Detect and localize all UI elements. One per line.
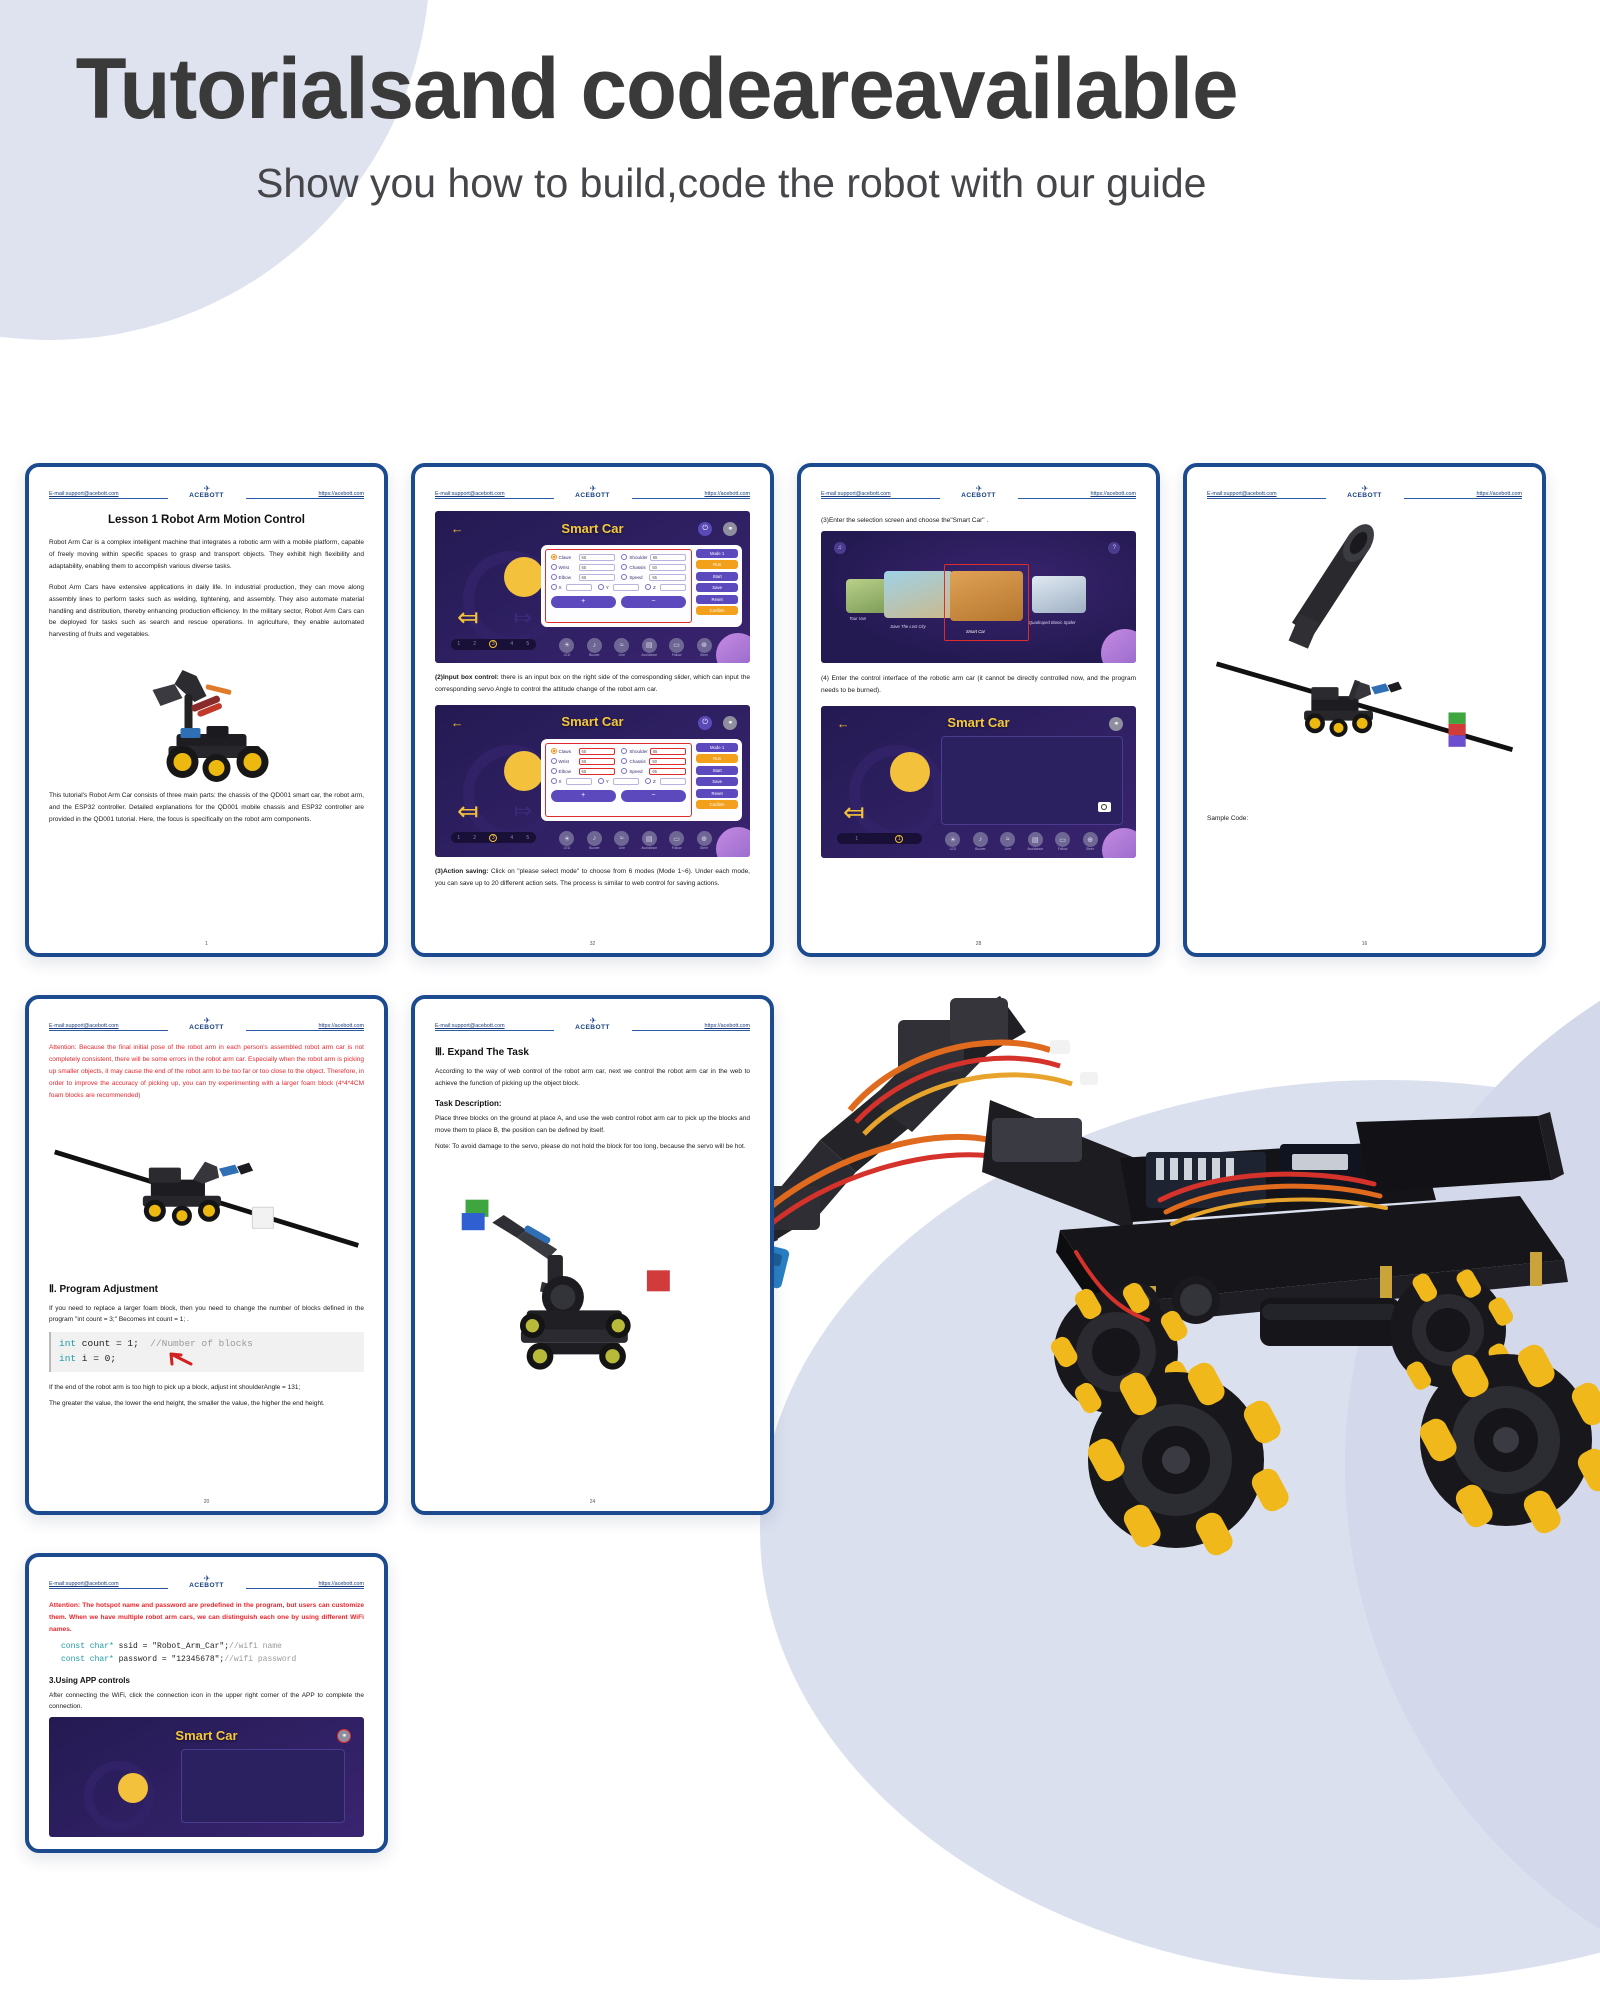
servo-field-chassis[interactable]: Chassis 50: [621, 564, 686, 571]
lesson-paragraph-3: This tutorial's Robot Arm Car consists o…: [49, 790, 364, 825]
dock-label: Avoidance: [1023, 848, 1048, 852]
servo-input[interactable]: 65: [579, 554, 616, 561]
servo-input[interactable]: 65: [650, 554, 686, 561]
avoidance-icon[interactable]: ▤: [642, 638, 657, 653]
dock-item-buzzer[interactable]: ♪ Buzzer: [582, 638, 607, 658]
servo-input[interactable]: 65: [650, 748, 686, 755]
dock-label: Steer: [692, 847, 717, 851]
radio-icon[interactable]: [621, 554, 627, 560]
led-icon[interactable]: ☀: [559, 638, 574, 653]
acebott-brand-name: ACEBOTT: [1326, 492, 1404, 499]
code-comment: //wifi password: [224, 1655, 296, 1664]
dock-label: Buzzer: [968, 848, 993, 852]
slider-step-active[interactable]: 1: [895, 835, 903, 843]
servo-input[interactable]: 65: [649, 768, 686, 775]
servo-field-claws[interactable]: Claws 65: [551, 748, 616, 755]
slider-step-active[interactable]: 3: [489, 640, 497, 648]
axis-input[interactable]: [660, 778, 686, 785]
acebott-logo-icon: ✈: [940, 485, 1018, 492]
confirm-button[interactable]: Confirm: [696, 606, 738, 615]
servo-field-chassis[interactable]: Chassis 50: [621, 758, 686, 765]
caption-selection-screen: (3)Enter the selection screen and choose…: [821, 515, 1136, 527]
servo-field-elbow[interactable]: Elbow 65: [551, 574, 616, 581]
radio-icon[interactable]: [598, 778, 604, 784]
axis-label: X: [559, 585, 564, 590]
section-title-program-adjustment: Ⅱ. Program Adjustment: [49, 1284, 364, 1295]
task-description-label: Task Description:: [435, 1099, 750, 1108]
task-description-text: Place three blocks on the ground at plac…: [435, 1113, 750, 1137]
acebott-logo-icon: ✈: [168, 1575, 246, 1582]
dock-item-line[interactable]: ≈ Line: [610, 638, 635, 658]
radio-icon[interactable]: [598, 584, 604, 590]
start-button[interactable]: Start: [696, 572, 738, 581]
page-number: 1: [29, 941, 384, 947]
smartcar-app-screenshot-4[interactable]: Smart Car ⚭: [49, 1717, 364, 1837]
joystick-knob[interactable]: [890, 752, 930, 792]
dock-label: Buzzer: [582, 847, 607, 851]
dock-item-avoidance[interactable]: ▤ Avoidance: [1023, 832, 1048, 852]
project-selection-screenshot[interactable]: ♫ ? Tour Van Save The Lost City Smart Ca…: [821, 531, 1136, 663]
radio-icon[interactable]: [551, 748, 557, 754]
steer-icon[interactable]: ⊕: [697, 638, 712, 653]
doc-header: E-mail:support@acebott.com ✈ ACEBOTT htt…: [1207, 481, 1522, 501]
acebott-brand-name: ACEBOTT: [554, 1024, 632, 1031]
slider-step[interactable]: 4: [510, 641, 513, 647]
smartcar-app-screenshot-3[interactable]: ← Smart Car ⚭ ⤆ 1 1 ☀ LED: [821, 706, 1136, 858]
code-block-count: int count = 1; //Number of blocks int i …: [49, 1332, 364, 1371]
dock-item-follow[interactable]: ▭ Follow: [1050, 832, 1075, 852]
servo-label: Elbow: [559, 769, 577, 774]
line-icon[interactable]: ≈: [614, 831, 629, 846]
run-button[interactable]: Run: [696, 754, 738, 763]
doc-header: E-mail:support@acebott.com ✈ ACEBOTT htt…: [821, 481, 1136, 501]
increment-button[interactable]: +: [551, 790, 616, 802]
led-icon[interactable]: ☀: [945, 832, 960, 847]
joystick-knob[interactable]: [118, 1773, 148, 1803]
section-title-using-app: 3.Using APP controls: [49, 1676, 364, 1685]
height-value-note: The greater the value, the lower the end…: [49, 1398, 364, 1410]
servo-label: Shoulder: [629, 555, 647, 560]
project-label: Save The Lost City: [890, 624, 925, 629]
dock-item-line[interactable]: ≈ Line: [996, 832, 1021, 852]
radio-icon[interactable]: [551, 574, 557, 580]
servo-label: Speed: [629, 769, 647, 774]
axis-field-y[interactable]: Y: [598, 778, 639, 785]
acebott-brand-name: ACEBOTT: [554, 492, 632, 499]
dock-item-led[interactable]: ☀ LED: [555, 831, 580, 851]
servo-label: Shoulder: [629, 749, 647, 754]
radio-icon[interactable]: [645, 584, 651, 590]
tutorial-card-lesson1[interactable]: E-mail:support@acebott.com ✈ ACEBOTT htt…: [25, 463, 388, 957]
servo-input[interactable]: 50: [649, 564, 686, 571]
smartcar-app-screenshot-1[interactable]: ← Smart Car ⏻ ⚭ ⤆ ⤇ 1 2 3 4 5: [435, 511, 750, 663]
code-text: ssid = "Robot_Arm_Car";: [114, 1642, 229, 1651]
page-number: 20: [29, 1499, 384, 1505]
app-connection-paragraph: After connecting the WiFi, click the con…: [49, 1690, 364, 1714]
caption-action-saving: (3)Action saving: Click on "please selec…: [435, 866, 750, 890]
start-button[interactable]: Start: [696, 766, 738, 775]
axis-label: Z: [653, 585, 658, 590]
servo-input[interactable]: 65: [579, 564, 616, 571]
caption-control-interface: (4) Enter the control interface of the r…: [821, 673, 1136, 697]
doc-email: E-mail:support@acebott.com: [435, 1023, 554, 1031]
servo-field-elbow[interactable]: Elbow 65: [551, 768, 616, 775]
servo-input[interactable]: 65: [579, 748, 616, 755]
doc-url: https://acebott.com: [632, 1023, 751, 1031]
servo-field-shoulder[interactable]: Shoulder 65: [621, 748, 686, 755]
tutorial-card-expand-task[interactable]: E-mail:support@acebott.com ✈ ACEBOTT htt…: [411, 995, 774, 1515]
servo-control-panel[interactable]: Claws 65 Shoulder 65: [541, 545, 743, 627]
servo-input[interactable]: 65: [579, 768, 616, 775]
code-text: password = "12345678";: [114, 1655, 224, 1664]
caption-label: (3)Action saving:: [435, 868, 488, 875]
acebott-brand-name: ACEBOTT: [168, 1582, 246, 1589]
radio-icon[interactable]: [551, 554, 557, 560]
servo-field-wrist[interactable]: Wrist 65: [551, 564, 616, 571]
confirm-button[interactable]: Confirm: [696, 800, 738, 809]
code-comment: //Number of blocks: [150, 1338, 253, 1349]
arrow-right-icon[interactable]: ⤇: [514, 800, 532, 822]
link-icon[interactable]: ⚭: [1109, 717, 1123, 731]
video-viewport[interactable]: [941, 736, 1124, 824]
radio-icon[interactable]: [551, 584, 557, 590]
attention-note: Attention: Because the final initial pos…: [49, 1042, 364, 1101]
radio-icon[interactable]: [551, 758, 557, 764]
dock-label: Buzzer: [582, 654, 607, 658]
code-keyword: const char*: [61, 1655, 114, 1664]
page-number: 32: [415, 941, 770, 947]
code-text: count = 1;: [76, 1338, 139, 1349]
red-arrow-annotation-icon: [169, 1352, 195, 1366]
project-label: Tour Van: [849, 616, 866, 621]
decrement-button[interactable]: −: [621, 596, 686, 608]
mode-select-button[interactable]: Mode 1: [696, 549, 738, 558]
program-adjustment-paragraph: If you need to replace a larger foam blo…: [49, 1303, 364, 1327]
dock-label: Avoidance: [637, 847, 662, 851]
project-thumb-lost-city[interactable]: [884, 571, 953, 619]
page-number: 24: [415, 1499, 770, 1505]
project-thumb-spider[interactable]: [1032, 576, 1086, 613]
buzzer-icon[interactable]: ♪: [973, 832, 988, 847]
axis-label: Y: [606, 779, 611, 784]
axis-input[interactable]: [613, 778, 639, 785]
doc-url: https://acebott.com: [246, 1023, 365, 1031]
dock-label: Line: [610, 654, 635, 658]
radio-icon[interactable]: [551, 564, 557, 570]
project-label: Quadruped Bionic Spider: [1029, 620, 1076, 625]
code-keyword: const char*: [61, 1642, 114, 1651]
doc-email: E-mail:support@acebott.com: [1207, 491, 1326, 499]
axis-field-x[interactable]: X: [551, 778, 592, 785]
doc-email: E-mail:support@acebott.com: [435, 491, 554, 499]
axis-field-y[interactable]: Y: [598, 584, 639, 591]
code-line-2: int i = 0;: [59, 1352, 356, 1367]
doc-email: E-mail:support@acebott.com: [49, 1581, 168, 1589]
code-line-1: int count = 1; //Number of blocks: [59, 1337, 356, 1352]
steer-icon[interactable]: ⊕: [1083, 832, 1098, 847]
servo-label: Chassis: [629, 565, 647, 570]
joystick-knob[interactable]: [504, 751, 544, 791]
code-text: i = 0;: [76, 1353, 116, 1364]
dock-item-buzzer[interactable]: ♪ Buzzer: [582, 831, 607, 851]
servo-input[interactable]: 50: [649, 758, 686, 765]
camera-icon[interactable]: [1098, 802, 1111, 812]
doc-header: E-mail:support@acebott.com ✈ ACEBOTT htt…: [49, 1571, 364, 1591]
dock-label: LED: [555, 847, 580, 851]
buzzer-icon[interactable]: ♪: [587, 831, 602, 846]
radio-icon[interactable]: [645, 778, 651, 784]
servo-label: Claws: [559, 555, 577, 560]
servo-label: Wrist: [559, 565, 577, 570]
doc-email: E-mail:support@acebott.com: [821, 491, 940, 499]
doc-header: E-mail:support@acebott.com ✈ ACEBOTT htt…: [435, 1013, 750, 1033]
code-keyword: int: [59, 1353, 76, 1364]
project-label-selected: Smart Car: [966, 629, 985, 634]
doc-header: E-mail:support@acebott.com ✈ ACEBOTT htt…: [49, 481, 364, 501]
dock-label: Avoidance: [637, 654, 662, 658]
buzzer-icon[interactable]: ♪: [587, 638, 602, 653]
page-title: Tutorialsand codeareavailable: [0, 44, 1552, 134]
led-icon[interactable]: ☀: [559, 831, 574, 846]
doc-header: E-mail:support@acebott.com ✈ ACEBOTT htt…: [49, 1013, 364, 1033]
arrow-left-icon[interactable]: ⤆: [457, 798, 479, 824]
doc-url: https://acebott.com: [246, 1581, 365, 1589]
code-keyword: int: [59, 1338, 76, 1349]
dock-item-steer[interactable]: ⊕ Steer: [692, 638, 717, 658]
robot-arm-car-photo: [49, 650, 364, 790]
tutorial-card-app-control[interactable]: E-mail:support@acebott.com ✈ ACEBOTT htt…: [411, 463, 774, 957]
dock-label: LED: [941, 848, 966, 852]
servo-fields-group: Claws 65 Shoulder 65: [545, 743, 693, 817]
mode-slider[interactable]: 1 2 3 4 5: [451, 639, 536, 650]
code-line-ssid: const char* ssid = "Robot_Arm_Car";//wif…: [49, 1641, 364, 1654]
dock-item-follow[interactable]: ▭ Follow: [664, 638, 689, 658]
doc-url: https://acebott.com: [632, 491, 751, 499]
radio-icon[interactable]: [621, 564, 627, 570]
mode-slider[interactable]: 1 2 3 4 5: [451, 832, 536, 843]
axis-field-x[interactable]: X: [551, 584, 592, 591]
lesson-paragraph-2: Robot Arm Cars have extensive applicatio…: [49, 582, 364, 641]
line-icon[interactable]: ≈: [614, 638, 629, 653]
slider-step[interactable]: 1: [457, 641, 460, 647]
doc-header: E-mail:support@acebott.com ✈ ACEBOTT htt…: [435, 481, 750, 501]
axis-label: Y: [606, 585, 611, 590]
dock-item-led[interactable]: ☀ LED: [555, 638, 580, 658]
dock-item-steer[interactable]: ⊕ Steer: [692, 831, 717, 851]
caption-label: (2)Input box control:: [435, 674, 499, 681]
radio-icon[interactable]: [621, 768, 627, 774]
section-title-expand-task: Ⅲ. Expand The Task: [435, 1047, 750, 1058]
servo-field-shoulder[interactable]: Shoulder 65: [621, 554, 686, 561]
slider-step[interactable]: 4: [510, 835, 513, 841]
tape-and-car-illustration: [1207, 509, 1522, 809]
radio-icon[interactable]: [621, 574, 627, 580]
axis-input[interactable]: [613, 584, 639, 591]
dock-item-avoidance[interactable]: ▤ Avoidance: [637, 638, 662, 658]
axis-input[interactable]: [566, 778, 592, 785]
increment-button[interactable]: +: [551, 596, 616, 608]
code-comment: //wifi name: [229, 1642, 282, 1651]
mode-select-button[interactable]: Mode 1: [696, 743, 738, 752]
dock-label: Line: [610, 847, 635, 851]
tutorial-card-sample-code[interactable]: E-mail:support@acebott.com ✈ ACEBOTT htt…: [1183, 463, 1546, 957]
acebott-brand-name: ACEBOTT: [168, 1024, 246, 1031]
acebott-brand-name: ACEBOTT: [940, 492, 1018, 499]
planet-decoration: [1101, 629, 1136, 664]
power-icon[interactable]: ⏻: [698, 716, 712, 730]
servo-label: Elbow: [559, 575, 577, 580]
dock-item-follow[interactable]: ▭ Follow: [664, 831, 689, 851]
radio-icon[interactable]: [551, 768, 557, 774]
app-side-buttons: Mode 1 Run Start Save Reset Confirm: [692, 743, 738, 817]
sample-code-label: Sample Code:: [1207, 813, 1522, 825]
caption-input-box-control: (2)Input box control: there is an input …: [435, 672, 750, 696]
follow-icon[interactable]: ▭: [669, 638, 684, 653]
arrow-right-icon[interactable]: ⤇: [514, 607, 532, 629]
slider-step[interactable]: 5: [526, 835, 529, 841]
robot-car-on-line-illustration: [49, 1108, 364, 1276]
app-title: Smart Car: [49, 1728, 364, 1743]
line-icon[interactable]: ≈: [1000, 832, 1015, 847]
axis-label: X: [559, 779, 564, 784]
project-thumb-smart-car[interactable]: [950, 571, 1022, 621]
acebott-brand-name: ACEBOTT: [168, 492, 246, 499]
app-side-buttons: Mode 1 Run Start Save Reset Confirm: [692, 549, 738, 623]
dock-item-steer[interactable]: ⊕ Steer: [1078, 832, 1103, 852]
avoidance-icon[interactable]: ▤: [642, 831, 657, 846]
arrow-left-icon[interactable]: ⤆: [457, 604, 479, 630]
slider-step[interactable]: 1: [457, 835, 460, 841]
steer-icon[interactable]: ⊕: [697, 831, 712, 846]
shoulder-angle-note: If the end of the robot arm is too high …: [49, 1382, 364, 1394]
tutorial-card-wifi-app[interactable]: E-mail:support@acebott.com ✈ ACEBOTT htt…: [25, 1553, 388, 1853]
slider-step[interactable]: 2: [473, 835, 476, 841]
page-header: Tutorialsand codeareavailable Show you h…: [0, 0, 1600, 207]
dock-label: Steer: [692, 654, 717, 658]
servo-field-speed[interactable]: Speed 65: [621, 768, 686, 775]
dock-label: LED: [555, 654, 580, 658]
servo-control-panel[interactable]: Claws 65 Shoulder 65: [541, 739, 743, 821]
slider-step[interactable]: 5: [526, 641, 529, 647]
servo-label: Chassis: [629, 759, 647, 764]
page-subtitle: Show you how to build,code the robot wit…: [0, 160, 1600, 207]
dock-item-led[interactable]: ☀ LED: [941, 832, 966, 852]
servo-field-speed[interactable]: Speed 65: [621, 574, 686, 581]
doc-url: https://acebott.com: [246, 491, 365, 499]
expand-task-paragraph: According to the way of web control of t…: [435, 1066, 750, 1090]
dock-label: Follow: [664, 847, 689, 851]
reset-button[interactable]: Reset: [696, 789, 738, 798]
reset-button[interactable]: Reset: [696, 595, 738, 604]
robot-arm-car-blocks-illustration: [435, 1162, 750, 1392]
music-icon[interactable]: ♫: [834, 542, 846, 554]
servo-warning-note: Note: To avoid damage to the servo, plea…: [435, 1141, 750, 1153]
acebott-logo-icon: ✈: [168, 485, 246, 492]
app-title: Smart Car: [821, 715, 1136, 730]
mode-slider[interactable]: 1 1: [837, 833, 922, 844]
smartcar-app-screenshot-2[interactable]: ← Smart Car ⏻ ⚭ ⤆ ⤇ 1 2 3 4 5: [435, 705, 750, 857]
dock-item-avoidance[interactable]: ▤ Avoidance: [637, 831, 662, 851]
slider-step-active[interactable]: 3: [489, 834, 497, 842]
avoidance-icon[interactable]: ▤: [1028, 832, 1043, 847]
help-icon[interactable]: ?: [1108, 542, 1120, 554]
video-viewport[interactable]: [181, 1749, 345, 1823]
slider-step[interactable]: 2: [473, 641, 476, 647]
servo-label: Wrist: [559, 759, 577, 764]
servo-input[interactable]: 65: [579, 758, 616, 765]
dock-label: Follow: [664, 654, 689, 658]
acebott-logo-icon: ✈: [554, 1017, 632, 1024]
servo-fields-group: Claws 65 Shoulder 65: [545, 549, 693, 623]
radio-icon[interactable]: [621, 758, 627, 764]
axis-label: Z: [653, 779, 658, 784]
radio-icon[interactable]: [621, 748, 627, 754]
decrement-button[interactable]: −: [621, 790, 686, 802]
tutorial-card-selection[interactable]: E-mail:support@acebott.com ✈ ACEBOTT htt…: [797, 463, 1160, 957]
doc-url: https://acebott.com: [1404, 491, 1523, 499]
tutorial-card-program-adjustment[interactable]: E-mail:support@acebott.com ✈ ACEBOTT htt…: [25, 995, 388, 1515]
dock-label: Line: [996, 848, 1021, 852]
follow-icon[interactable]: ▭: [669, 831, 684, 846]
radio-icon[interactable]: [551, 778, 557, 784]
servo-label: Claws: [559, 749, 577, 754]
axis-field-z[interactable]: Z: [645, 778, 686, 785]
follow-icon[interactable]: ▭: [1055, 832, 1070, 847]
doc-email: E-mail:support@acebott.com: [49, 491, 168, 499]
dock-label: Steer: [1078, 848, 1103, 852]
page-number: 16: [1187, 941, 1542, 947]
acebott-logo-icon: ✈: [554, 485, 632, 492]
acebott-logo-icon: ✈: [168, 1017, 246, 1024]
servo-input[interactable]: 65: [579, 574, 616, 581]
save-button[interactable]: Save: [696, 583, 738, 592]
slider-step[interactable]: 1: [855, 836, 858, 842]
axis-input[interactable]: [660, 584, 686, 591]
save-button[interactable]: Save: [696, 777, 738, 786]
doc-email: E-mail:support@acebott.com: [49, 1023, 168, 1031]
lesson-paragraph-1: Robot Arm Car is a complex intelligent m…: [49, 537, 364, 572]
doc-url: https://acebott.com: [1018, 491, 1137, 499]
wifi-attention-note: Attention: The hotspot name and password…: [49, 1600, 364, 1636]
acebott-logo-icon: ✈: [1326, 485, 1404, 492]
lesson-title: Lesson 1 Robot Arm Motion Control: [49, 514, 364, 526]
axis-field-z[interactable]: Z: [645, 584, 686, 591]
servo-label: Speed: [629, 575, 647, 580]
dock-item-line[interactable]: ≈ Line: [610, 831, 635, 851]
servo-field-claws[interactable]: Claws 65: [551, 554, 616, 561]
dock-item-buzzer[interactable]: ♪ Buzzer: [968, 832, 993, 852]
arrow-left-icon[interactable]: ⤆: [843, 799, 865, 825]
code-line-password: const char* password = "12345678";//wifi…: [49, 1654, 364, 1667]
dock-label: Follow: [1050, 848, 1075, 852]
run-button[interactable]: Run: [696, 560, 738, 569]
servo-input[interactable]: 65: [649, 574, 686, 581]
axis-input[interactable]: [566, 584, 592, 591]
page-number: 28: [801, 941, 1156, 947]
servo-field-wrist[interactable]: Wrist 65: [551, 758, 616, 765]
